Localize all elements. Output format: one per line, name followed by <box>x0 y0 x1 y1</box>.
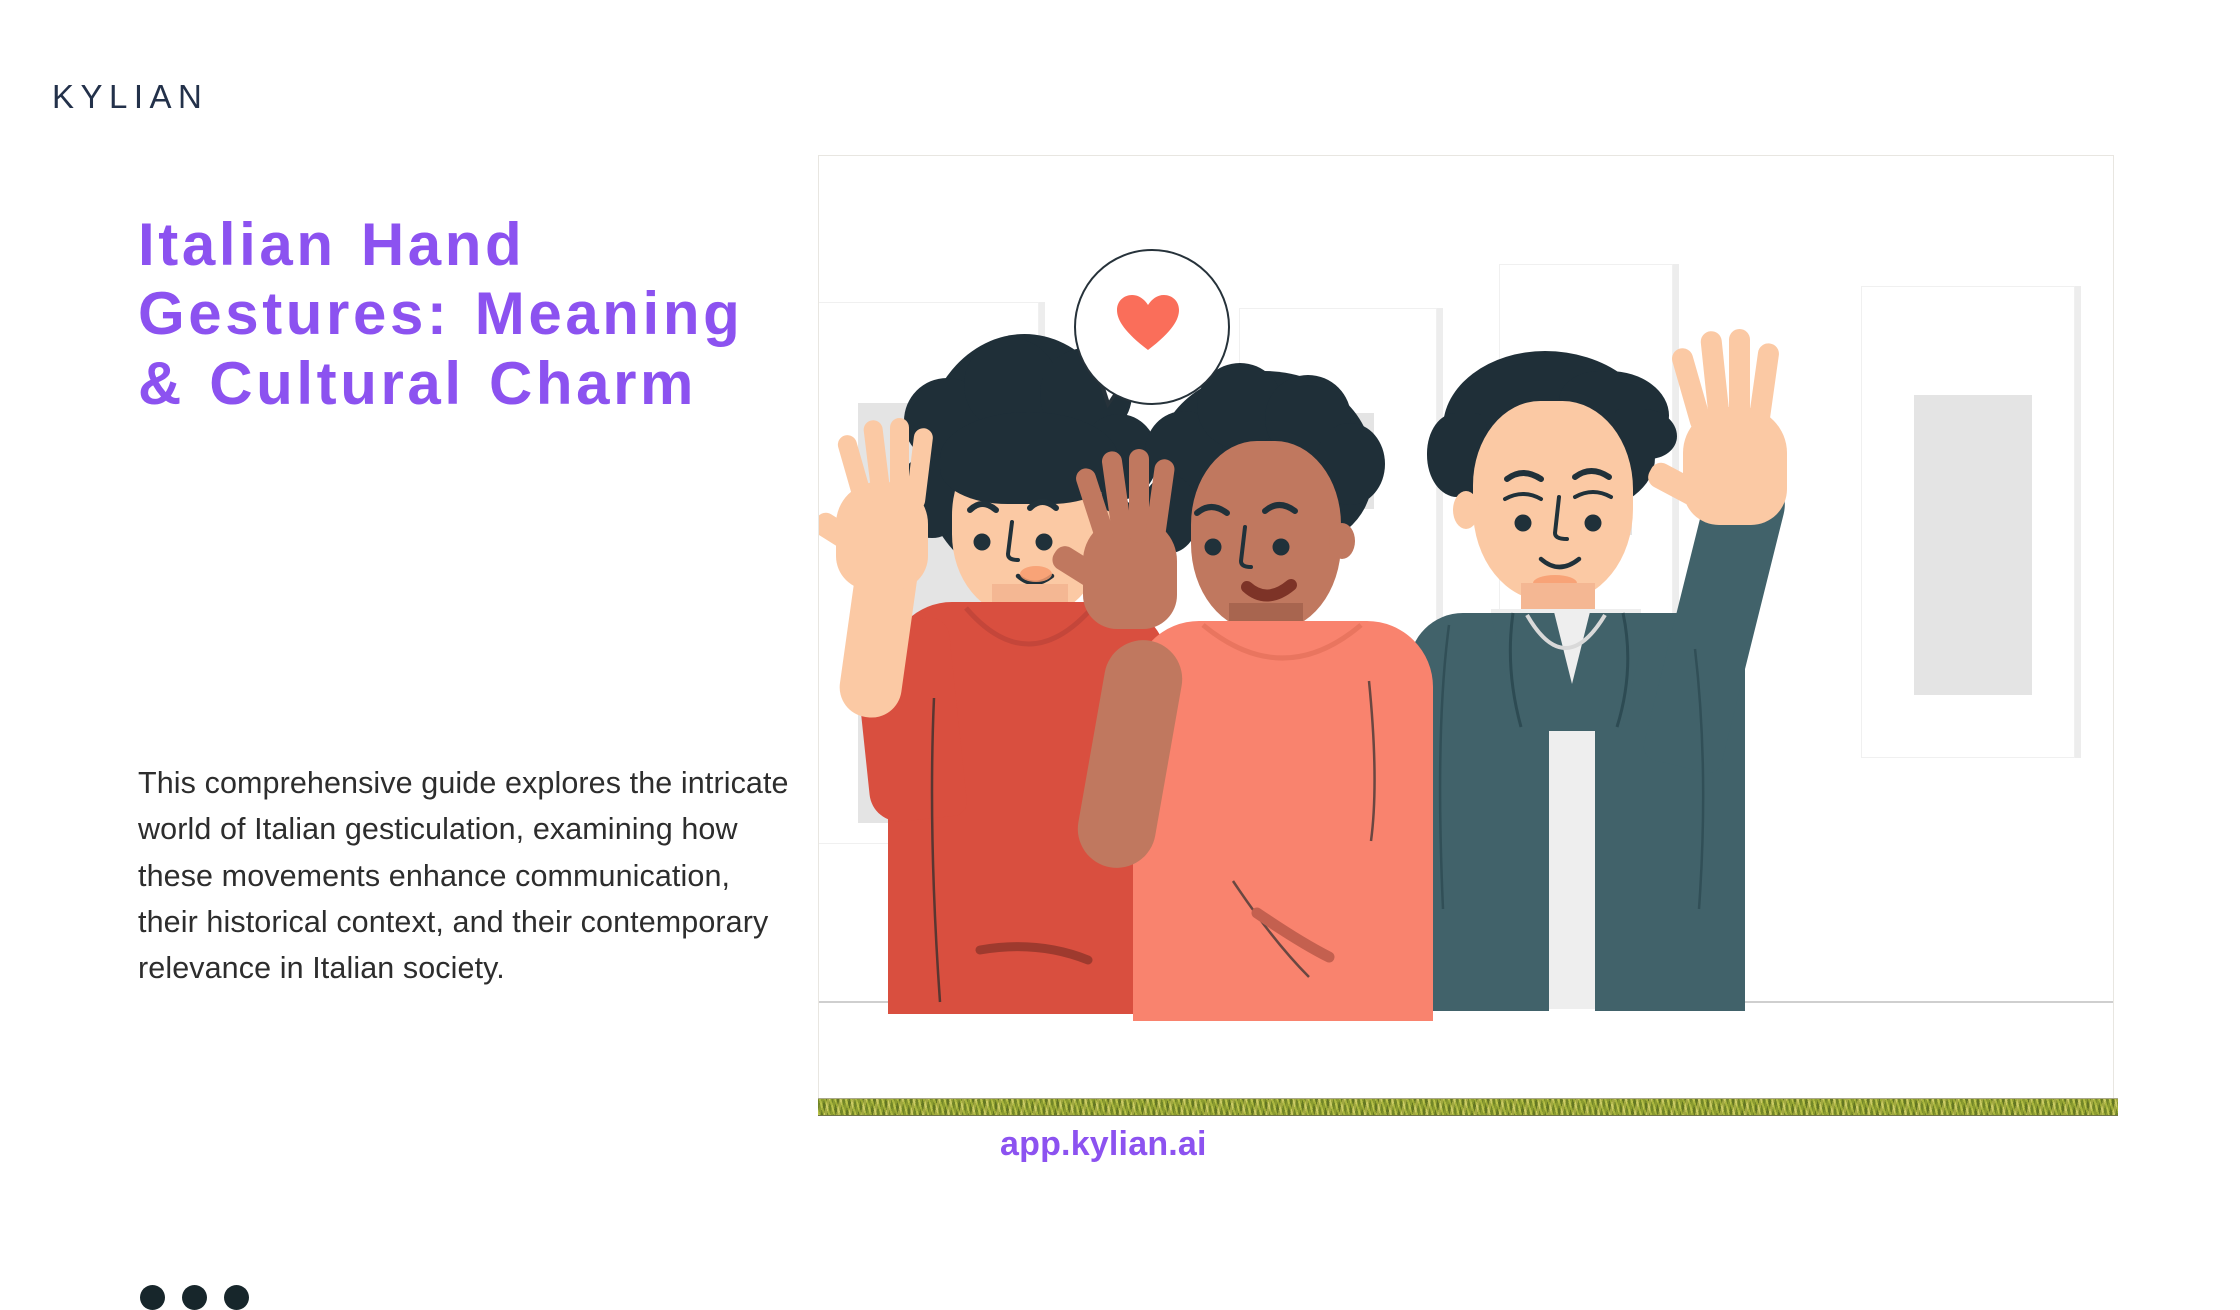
slide-canvas: KYLIAN Italian Hand Gestures: Meaning & … <box>0 0 2240 1260</box>
page-title: Italian Hand Gestures: Meaning & Cultura… <box>138 210 798 418</box>
slide-dot-3[interactable] <box>224 1285 249 1310</box>
footer-url[interactable]: app.kylian.ai <box>1000 1125 1207 1164</box>
grass-strip <box>818 1098 2118 1116</box>
brand-logo: KYLIAN <box>52 78 208 116</box>
body-paragraph: This comprehensive guide explores the in… <box>138 760 793 992</box>
wall-frame-far-right <box>1861 286 2075 758</box>
pagination-dots <box>140 1285 249 1310</box>
slide-dot-2[interactable] <box>182 1285 207 1310</box>
slide-dot-1[interactable] <box>140 1285 165 1310</box>
heart-icon <box>1117 295 1179 351</box>
illustration-canvas <box>819 156 2113 1109</box>
person-center <box>1119 371 1499 1016</box>
left-content-column: Italian Hand Gestures: Meaning & Cultura… <box>138 210 798 418</box>
illustration-panel <box>818 155 2114 1110</box>
